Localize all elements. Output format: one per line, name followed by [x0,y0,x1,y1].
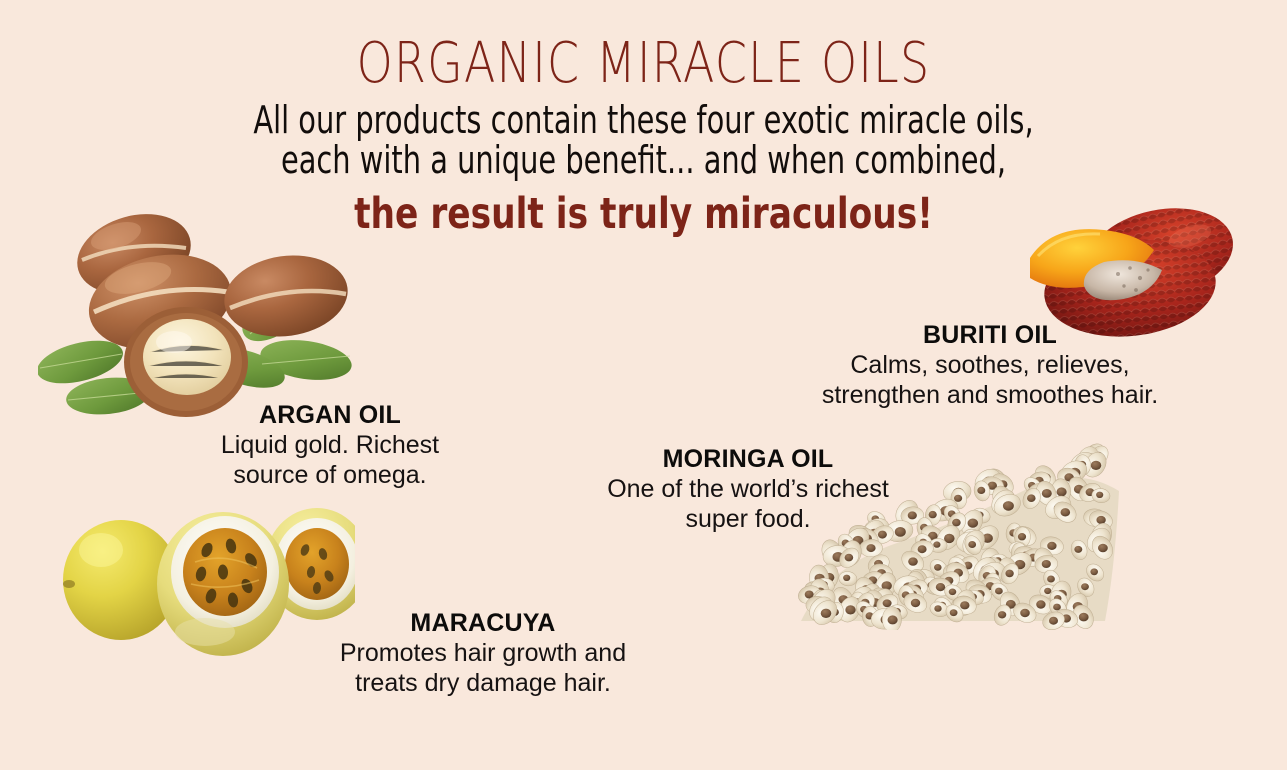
page-title: ORGANIC MIRACLE OILS [116,31,1171,97]
page-subtitle: All our products contain these four exot… [154,100,1132,180]
oil-block-moringa: MORINGA OIL One of the world’s richest s… [548,444,948,534]
oil-block-buriti: BURITI OIL Calms, soothes, relieves, str… [760,320,1220,410]
oil-block-maracuya: MARACUYA Promotes hair growth and treats… [288,608,678,698]
argan-desc-line-2: source of omega. [170,460,490,490]
subtitle-line-1: All our products contain these four exot… [154,100,1132,140]
oil-block-argan: ARGAN OIL Liquid gold. Richest source of… [170,400,490,490]
argan-desc-line-1: Liquid gold. Richest [170,430,490,460]
argan-nut-right [219,248,353,344]
maracuya-half-front [157,512,289,656]
moringa-oil-heading: MORINGA OIL [548,444,948,474]
buriti-desc-line-2: strengthen and smoothes hair. [760,380,1220,410]
moringa-oil-description: One of the world’s richest super food. [548,474,948,534]
argan-nuts-image [38,200,368,425]
maracuya-description: Promotes hair growth and treats dry dama… [288,638,678,698]
buriti-oil-heading: BURITI OIL [760,320,1220,350]
argan-oil-heading: ARGAN OIL [170,400,490,430]
buriti-oil-description: Calms, soothes, relieves, strengthen and… [760,350,1220,410]
subtitle-line-2: each with a unique benefit... and when c… [154,140,1132,180]
argan-oil-description: Liquid gold. Richest source of omega. [170,430,490,490]
moringa-desc-line-2: super food. [548,504,948,534]
maracuya-desc-line-2: treats dry damage hair. [288,668,678,698]
maracuya-heading: MARACUYA [288,608,678,638]
maracuya-desc-line-1: Promotes hair growth and [288,638,678,668]
moringa-desc-line-1: One of the world’s richest [548,474,948,504]
buriti-desc-line-1: Calms, soothes, relieves, [760,350,1220,380]
infographic-canvas: ORGANIC MIRACLE OILS All our products co… [0,0,1287,770]
